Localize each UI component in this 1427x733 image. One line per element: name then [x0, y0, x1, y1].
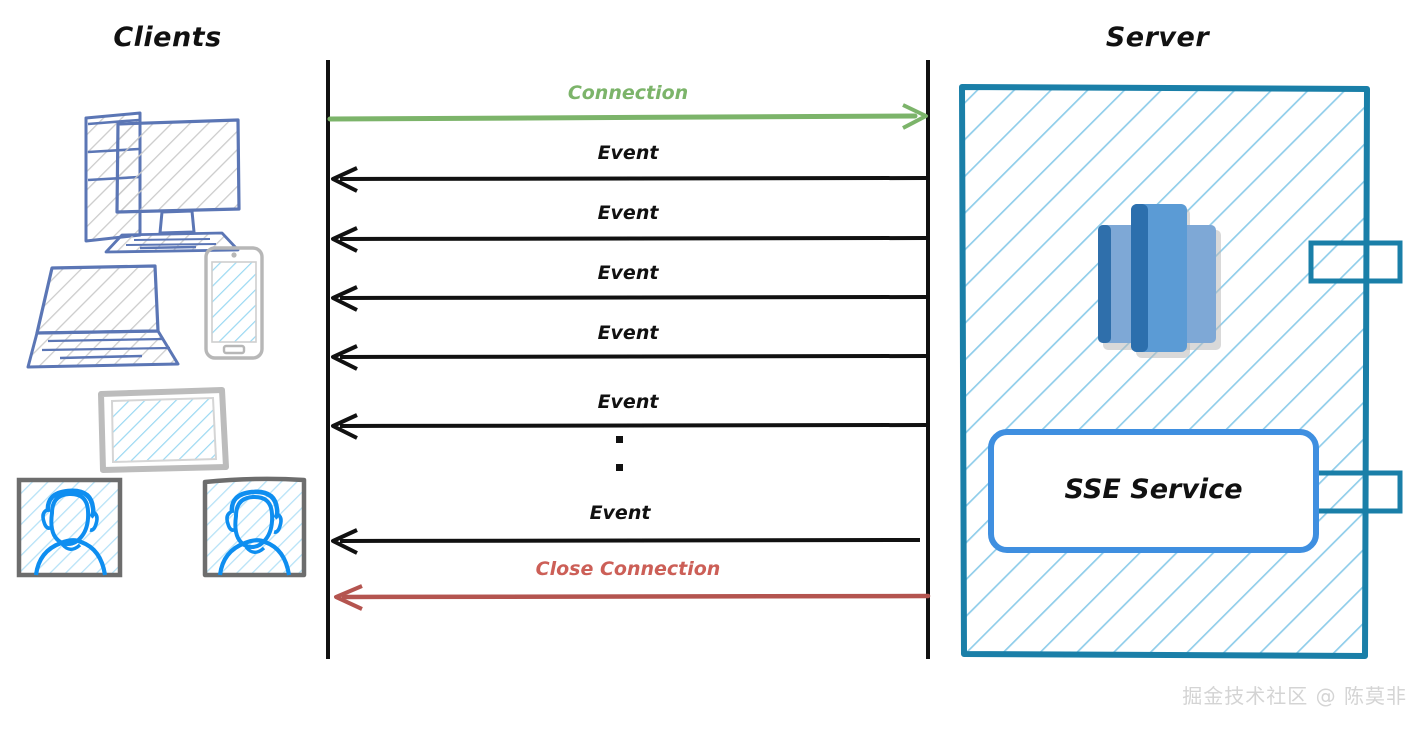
message-arrow-connection: [330, 105, 926, 128]
message-label-event: Event: [478, 142, 778, 164]
smartphone-icon: [206, 248, 262, 358]
diagram-canvas: Clients Server Connection Event Event Ev…: [0, 0, 1427, 733]
desktop-computer-icon: [86, 113, 239, 252]
laptop-icon: [28, 266, 178, 367]
message-label-connection: Connection: [478, 82, 778, 104]
server-title: Server: [1050, 22, 1265, 53]
sse-service-label: SSE Service: [991, 474, 1316, 505]
tablet-icon: [101, 390, 226, 470]
message-label-event: Event: [478, 391, 778, 413]
message-label-close-connection: Close Connection: [478, 558, 778, 580]
server-box-tab: [1311, 473, 1400, 511]
message-arrow-event: [333, 415, 926, 438]
message-label-event: Event: [478, 322, 778, 344]
user-avatar-icon: [19, 480, 120, 575]
message-arrow-event: [333, 530, 920, 553]
watermark: 掘金技术社区 @ 陈莫非: [1182, 680, 1407, 709]
message-arrow-event: [333, 287, 926, 310]
message-arrow-event: [333, 346, 926, 369]
message-label-event: Event: [478, 202, 778, 224]
user-avatar-icon: [205, 479, 304, 575]
server-box-tab: [1311, 243, 1400, 281]
server-box: [962, 87, 1400, 656]
message-arrow-event: [333, 228, 926, 251]
ellipsis-dots: [616, 436, 623, 471]
message-arrow-event: [333, 168, 926, 191]
message-label-event: Event: [470, 502, 770, 524]
diagram-artwork: [0, 0, 1427, 733]
clients-title: Clients: [60, 22, 275, 53]
message-label-event: Event: [478, 262, 778, 284]
message-arrow-close-connection: [336, 586, 928, 609]
server-stack-icon: [1098, 204, 1221, 358]
